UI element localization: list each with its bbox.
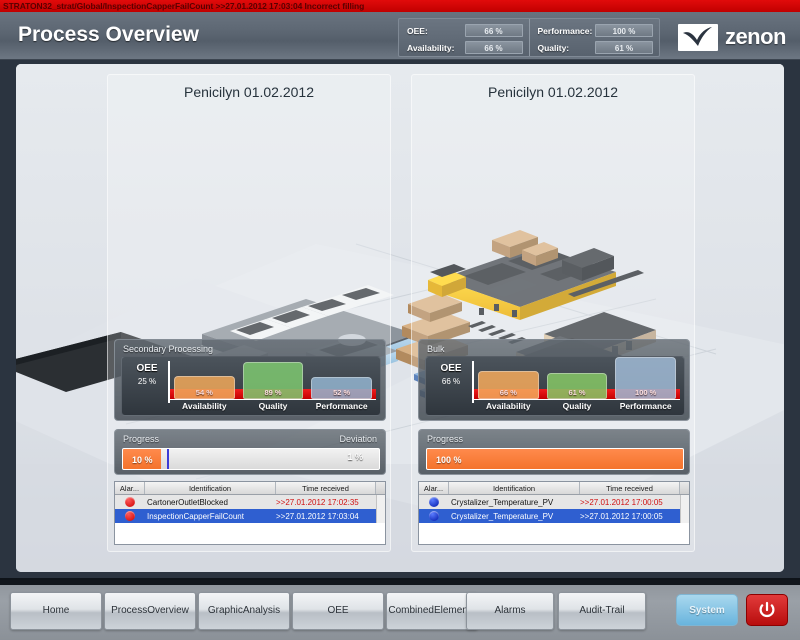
power-icon — [757, 600, 777, 620]
nav-button-home[interactable]: Home — [10, 592, 102, 630]
oee-chart-left[interactable]: OEE 25 % 54 % — [121, 356, 381, 416]
alarm-col-time-right[interactable]: Time received — [580, 482, 680, 494]
alarm-time-left-0: >>27.01.2012 17:02:35 — [276, 498, 376, 507]
oee-chart-right[interactable]: OEE 66 % 66 % — [425, 356, 685, 416]
oee-group-label-right: Bulk — [427, 344, 445, 354]
bar-slot-quality-right: 61 % — [543, 357, 612, 399]
progress-bar-right[interactable]: 100 % — [426, 448, 684, 470]
oee-group-label-left: Secondary Processing — [123, 344, 213, 354]
oee-group-right: Bulk OEE 66 % 66 % — [418, 339, 690, 421]
alarm-col-severity-left[interactable]: Alar... — [115, 482, 145, 494]
panel-title-left: Penicilyn 01.02.2012 — [108, 84, 390, 100]
alarm-list-left[interactable]: Alar... Identification Time received Car… — [114, 481, 386, 545]
nav-button-label: Audit-Trail — [579, 605, 624, 617]
alarm-row-left-1[interactable]: InspectionCapperFailCount >>27.01.2012 1… — [115, 509, 385, 523]
panel-title-right: Penicilyn 01.02.2012 — [412, 84, 694, 100]
kpi-availability-label: Availability: — [407, 43, 465, 53]
bar-slot-performance-right: 100 % — [611, 357, 680, 399]
kpi-quality: Quality: 61 % — [538, 40, 654, 55]
oee-tag-title-left: OEE — [128, 363, 166, 374]
nav-button-label: Graphic — [208, 605, 243, 617]
nav-button-label: Overview — [147, 605, 189, 617]
checkmark-icon — [678, 24, 718, 51]
category-labels-right: Availability Quality Performance — [474, 400, 680, 413]
category-availability-left: Availability — [170, 400, 239, 413]
bar-slot-availability-right: 66 % — [474, 357, 543, 399]
nav-button-audit-trail[interactable]: Audit-Trail — [558, 592, 646, 630]
nav-button-label: Home — [43, 605, 70, 617]
alarm-identification-left-0: CartonerOutletBlocked — [145, 498, 276, 507]
oee-tag-title-right: OEE — [432, 363, 470, 374]
oee-tag-left: OEE 25 % — [128, 363, 166, 386]
application-window: STRATON32_strat/Global/InspectionCapperF… — [0, 0, 800, 640]
bar-slot-performance-left: 52 % — [307, 357, 376, 399]
bar-value-availability-left: 54 % — [175, 388, 234, 397]
category-availability-right: Availability — [474, 400, 543, 413]
alarm-identification-right-1: Crystalizer_Temperature_PV — [449, 512, 580, 521]
bar-availability-right: 66 % — [478, 371, 539, 399]
kpi-performance: Performance: 100 % — [538, 23, 654, 38]
oee-tag-value-right: 66 % — [432, 377, 470, 386]
kpi-column-right: Performance: 100 % Quality: 61 % — [529, 19, 660, 56]
kpi-quality-value: 61 % — [595, 41, 653, 54]
zenon-wordmark: zenon — [725, 24, 786, 50]
oee-group-left: Secondary Processing OEE 25 % 54 — [114, 339, 386, 421]
bar-performance-right: 100 % — [615, 357, 676, 399]
progress-group-right: Progress 100 % — [418, 429, 690, 475]
alarm-severity-icon-left-1 — [115, 511, 145, 521]
alarm-list-right[interactable]: Alar... Identification Time received Cry… — [418, 481, 690, 545]
alarm-ticker[interactable]: STRATON32_strat/Global/InspectionCapperF… — [0, 0, 800, 12]
progress-value-left: 10 % — [132, 449, 153, 469]
alarm-scrollbar-right[interactable] — [680, 495, 689, 509]
progress-value-right: 100 % — [436, 449, 462, 469]
bar-value-quality-right: 61 % — [548, 388, 607, 397]
alarm-col-identification-right[interactable]: Identification — [449, 482, 580, 494]
kpi-oee-value: 66 % — [465, 24, 523, 37]
kpi-availability-value: 66 % — [465, 41, 523, 54]
nav-button-label: Combined — [388, 605, 434, 617]
nav-button-label: OEE — [327, 605, 348, 617]
alarm-col-time-left[interactable]: Time received — [276, 482, 376, 494]
oee-tag-value-left: 25 % — [128, 377, 166, 386]
bottom-navigation-bar: Home ProcessOverview GraphicAnalysis OEE… — [0, 578, 800, 640]
progress-bar-left[interactable]: 10 % — [122, 448, 380, 470]
alarm-list-header-right: Alar... Identification Time received — [419, 482, 689, 495]
alarm-col-severity-right[interactable]: Alar... — [419, 482, 449, 494]
alarm-row-left-0[interactable]: CartonerOutletBlocked >>27.01.2012 17:02… — [115, 495, 385, 509]
progress-label-right: Progress — [427, 434, 463, 444]
progress-fill-right — [427, 449, 683, 469]
bar-slot-quality-left: 89 % — [239, 357, 308, 399]
oee-plot-left: 54 % 89 % 52 % — [168, 361, 376, 413]
alarm-severity-icon-left-0 — [115, 497, 145, 507]
alarm-time-right-0: >>27.01.2012 17:00:05 — [580, 498, 680, 507]
deviation-value-left: 1 % — [347, 452, 363, 462]
nav-button-process-overview[interactable]: ProcessOverview — [104, 592, 196, 630]
progress-label-left: Progress — [123, 434, 159, 444]
category-performance-right: Performance — [611, 400, 680, 413]
bar-series-left: 54 % 89 % 52 % — [170, 357, 376, 399]
alarm-scroll-corner-right[interactable] — [680, 482, 689, 494]
alarm-row-right-1[interactable]: Crystalizer_Temperature_PV >>27.01.2012 … — [419, 509, 689, 523]
alarm-identification-right-0: Crystalizer_Temperature_PV — [449, 498, 580, 507]
nav-button-oee[interactable]: OEE — [292, 592, 384, 630]
alarm-scrollbar-left-2[interactable] — [376, 509, 385, 523]
progress-group-left: Progress Deviation 10 % 1 % — [114, 429, 386, 475]
alarm-list-header-left: Alar... Identification Time received — [115, 482, 385, 495]
nav-button-alarms[interactable]: Alarms — [466, 592, 554, 630]
bar-value-performance-left: 52 % — [312, 388, 371, 397]
alarm-scrollbar-right-2[interactable] — [680, 509, 689, 523]
oee-tag-right: OEE 66 % — [432, 363, 470, 386]
alarm-time-right-1: >>27.01.2012 17:00:05 — [580, 512, 680, 521]
alarm-scroll-corner-left[interactable] — [376, 482, 385, 494]
kpi-performance-label: Performance: — [538, 26, 596, 36]
bar-availability-left: 54 % — [174, 376, 235, 399]
deviation-label-left: Deviation — [339, 434, 377, 444]
nav-button-combined-elements[interactable]: CombinedElements — [386, 592, 478, 630]
kpi-performance-value: 100 % — [595, 24, 653, 37]
kpi-quality-label: Quality: — [538, 43, 596, 53]
nav-button-label: Process — [111, 605, 147, 617]
kpi-oee-label: OEE: — [407, 26, 465, 36]
kpi-summary-box: OEE: 66 % Availability: 66 % Performance… — [398, 18, 660, 57]
bar-value-performance-right: 100 % — [616, 388, 675, 397]
bar-performance-left: 52 % — [311, 377, 372, 399]
kpi-oee: OEE: 66 % — [407, 23, 523, 38]
category-quality-right: Quality — [543, 400, 612, 413]
power-button[interactable] — [746, 594, 788, 626]
nav-button-graphic-analysis[interactable]: GraphicAnalysis — [198, 592, 290, 630]
panel-bulk: Penicilyn 01.02.2012 Bulk OEE 66 % — [411, 74, 695, 552]
category-quality-left: Quality — [239, 400, 308, 413]
oee-plot-right: 66 % 61 % 100 % — [472, 361, 680, 413]
nav-button-label: Analysis — [243, 605, 280, 617]
alarm-time-left-1: >>27.01.2012 17:03:04 — [276, 512, 376, 521]
category-labels-left: Availability Quality Performance — [170, 400, 376, 413]
content-frame: Penicilyn 01.02.2012 Secondary Processin… — [16, 64, 784, 572]
kpi-column-left: OEE: 66 % Availability: 66 % — [399, 19, 529, 56]
kpi-availability: Availability: 66 % — [407, 40, 523, 55]
navbar-top-strip — [0, 580, 800, 585]
nav-button-label: Alarms — [494, 605, 525, 617]
alarm-scrollbar-left[interactable] — [376, 495, 385, 509]
zenon-logo: zenon — [678, 21, 786, 53]
header-bar: Process Overview OEE: 66 % Availability:… — [0, 12, 800, 60]
system-button[interactable]: System — [676, 594, 738, 626]
alarm-col-identification-left[interactable]: Identification — [145, 482, 276, 494]
bar-value-availability-right: 66 % — [479, 388, 538, 397]
progress-marker-left — [167, 449, 169, 469]
bar-quality-left: 89 % — [243, 362, 304, 399]
bar-series-right: 66 % 61 % 100 % — [474, 357, 680, 399]
bar-quality-right: 61 % — [547, 373, 608, 399]
alarm-row-right-0[interactable]: Crystalizer_Temperature_PV >>27.01.2012 … — [419, 495, 689, 509]
alarm-severity-icon-right-1 — [419, 511, 449, 521]
page-title: Process Overview — [18, 23, 199, 47]
alarm-severity-icon-right-0 — [419, 497, 449, 507]
bar-slot-availability-left: 54 % — [170, 357, 239, 399]
alarm-identification-left-1: InspectionCapperFailCount — [145, 512, 276, 521]
panel-secondary-processing: Penicilyn 01.02.2012 Secondary Processin… — [107, 74, 391, 552]
bar-value-quality-left: 89 % — [244, 388, 303, 397]
category-performance-left: Performance — [307, 400, 376, 413]
